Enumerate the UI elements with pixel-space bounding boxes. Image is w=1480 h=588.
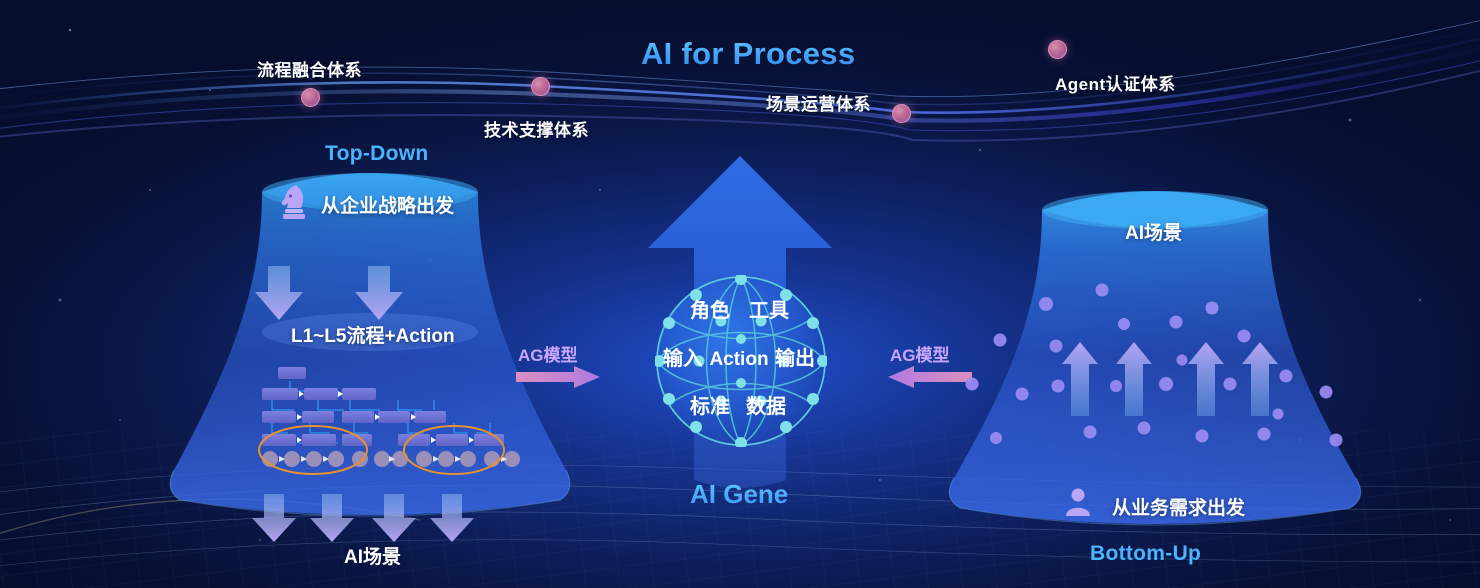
- sphere-label-3: Action: [709, 349, 768, 370]
- ag-arrow-right-icon: [516, 366, 600, 388]
- left-funnel-arrows-bottom: [250, 492, 500, 544]
- sphere-label-4: 输出: [775, 346, 815, 370]
- header-label-agent-certification: Agent认证体系: [1055, 70, 1176, 95]
- header-label-scene-operation: 场景运营体系: [766, 90, 871, 115]
- node-dot-3[interactable]: [892, 104, 911, 123]
- header-label-tech-support: 技术支撑体系: [484, 116, 589, 141]
- sphere-label-group: 角色工具输入Action输出标准数据: [640, 290, 840, 435]
- ag-model-label-left: AG模型: [518, 341, 578, 366]
- flow-highlight-groups: [258, 420, 528, 480]
- page-title: AI for Process: [641, 36, 855, 72]
- node-dot-1[interactable]: [301, 88, 320, 107]
- left-funnel-middle-label: L1~L5流程+Action: [291, 321, 455, 348]
- infographic-canvas: AI for Process 流程融合体系 技术支撑体系 场景运营体系 Agen…: [0, 0, 1480, 588]
- flow-ribbons: [0, 16, 1480, 141]
- left-funnel-bottom-label: AI场景: [344, 542, 401, 569]
- sphere-label-1: 工具: [749, 300, 789, 322]
- user-person-icon: [1064, 487, 1092, 517]
- chess-knight-icon: [278, 182, 312, 222]
- node-dot-2[interactable]: [531, 77, 550, 96]
- right-funnel-top-label: AI场景: [1125, 218, 1182, 245]
- node-dot-4[interactable]: [1048, 40, 1067, 59]
- header-label-process-integration: 流程融合体系: [257, 56, 362, 81]
- sphere-label-0: 角色: [690, 298, 730, 322]
- sphere-label-6: 数据: [746, 394, 786, 418]
- left-funnel-title: Top-Down: [325, 142, 428, 166]
- sphere-label-2: 输入: [663, 346, 703, 370]
- right-funnel-bottom-label: 从业务需求出发: [1112, 493, 1245, 520]
- right-funnel-title: Bottom-Up: [1090, 542, 1201, 566]
- sphere-label-5: 标准: [690, 394, 730, 418]
- ai-gene-title: AI Gene: [690, 479, 788, 510]
- left-funnel-top-label: 从企业战略出发: [321, 191, 454, 218]
